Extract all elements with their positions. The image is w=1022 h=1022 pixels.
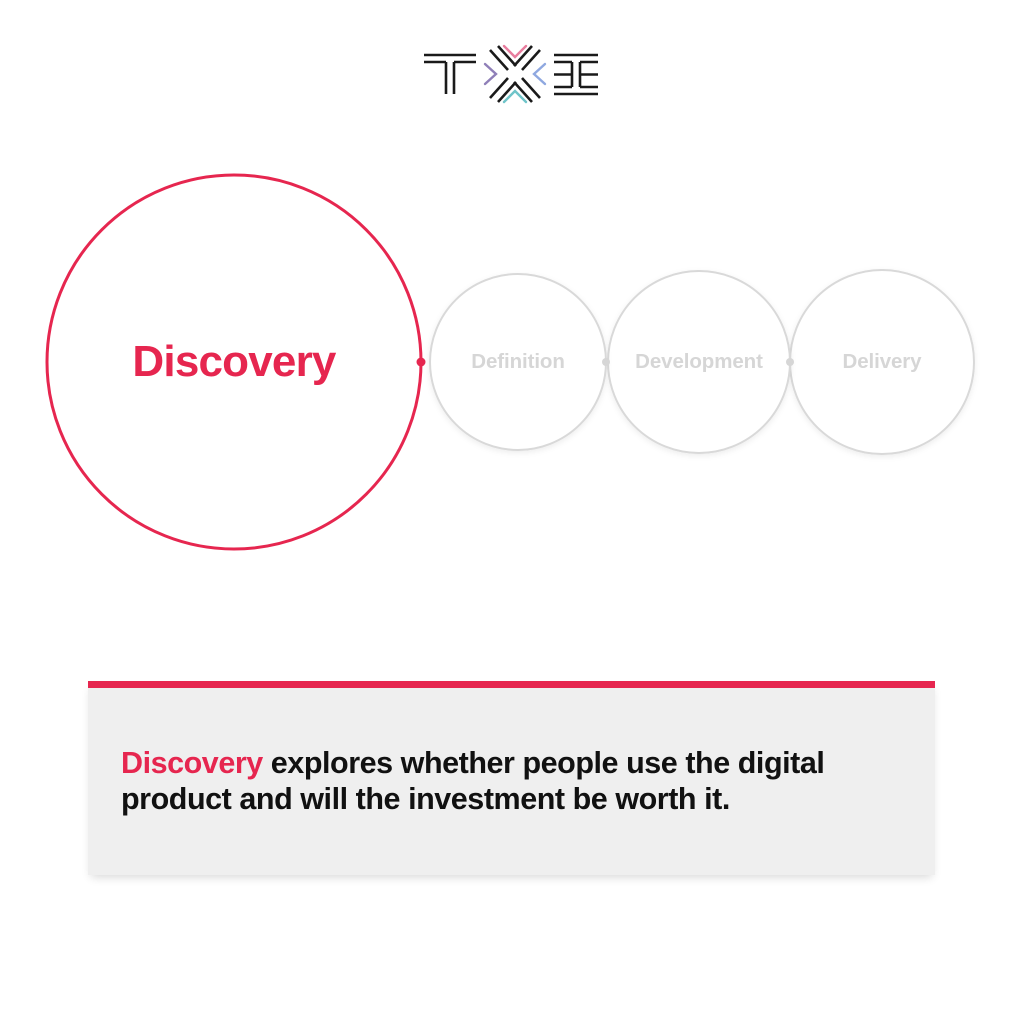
txi-logo	[422, 44, 600, 104]
phase-label-definition[interactable]: Definition	[471, 350, 565, 374]
phase-label-delivery[interactable]: Delivery	[843, 350, 922, 374]
phase-label-discovery[interactable]: Discovery	[132, 337, 335, 387]
description-highlight: Discovery	[121, 746, 263, 780]
phase-description-card: Discovery explores whether people use th…	[88, 681, 935, 875]
connector-dot-definition-development	[602, 358, 610, 366]
logo-letter-t	[424, 55, 476, 94]
phase-label-development[interactable]: Development	[635, 350, 763, 374]
slide-canvas: Discovery Definition Development Deliver…	[0, 0, 1022, 1022]
logo-container	[0, 38, 1022, 110]
logo-letter-i	[554, 55, 598, 94]
logo-chevron-left	[485, 64, 496, 84]
connector-dot-discovery-definition	[417, 358, 426, 367]
connector-dot-development-delivery	[786, 358, 794, 366]
phase-description-text: Discovery explores whether people use th…	[121, 745, 911, 817]
accent-bar	[88, 681, 935, 688]
logo-chevron-right	[534, 64, 545, 84]
